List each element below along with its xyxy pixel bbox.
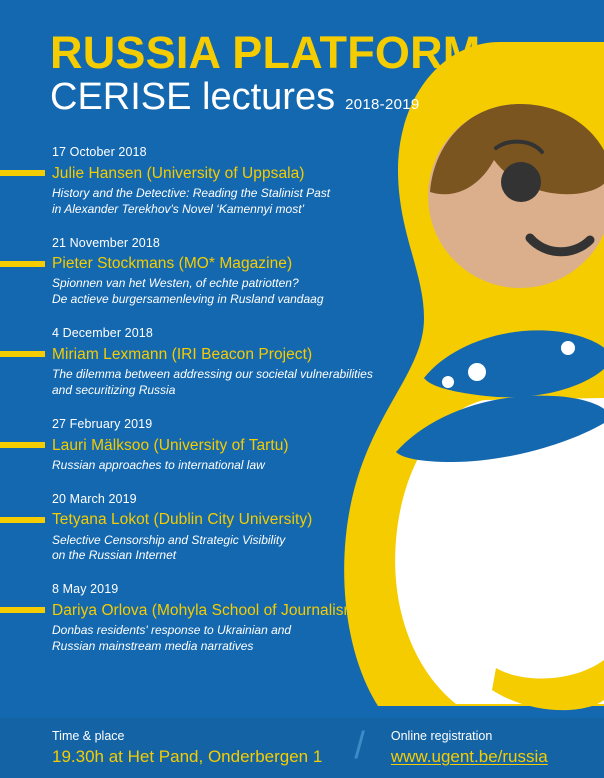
lecture-dash-marker xyxy=(0,607,45,613)
doll-apron-rim xyxy=(492,660,604,710)
lecture-list: 17 October 2018 Julie Hansen (University… xyxy=(0,146,420,674)
lecture-dash-marker xyxy=(0,170,45,176)
doll-mouth xyxy=(530,238,590,252)
lecture-topic-line: in Alexander Terekhov's Novel ‘Kamennyi … xyxy=(52,202,420,218)
doll-petal-dot xyxy=(442,376,454,388)
lecture-speaker: Tetyana Lokot (Dublin City University) xyxy=(52,512,420,528)
page-title: RUSSIA PLATFORM xyxy=(50,30,470,76)
lecture-topic: Russian approaches to international law xyxy=(52,458,420,474)
doll-eye xyxy=(501,162,541,202)
lecture-item: 27 February 2019 Lauri Mälksoo (Universi… xyxy=(0,418,420,474)
poster-header: RUSSIA PLATFORM CERISE lectures 2018-201… xyxy=(50,30,470,118)
lecture-dash-marker xyxy=(0,517,45,523)
time-place-label: Time & place xyxy=(52,729,322,745)
doll-face xyxy=(428,104,604,288)
doll-petal-lower xyxy=(396,396,604,462)
footer-separator: / xyxy=(354,727,365,765)
lecture-speaker: Pieter Stockmans (MO* Magazine) xyxy=(52,256,420,272)
time-place-value: 19.30h at Het Pand, Onderbergen 1 xyxy=(52,747,322,767)
registration-url-link[interactable]: www.ugent.be/russia xyxy=(391,747,548,767)
lecture-date: 27 February 2019 xyxy=(52,418,420,431)
doll-petal-dot xyxy=(561,341,575,355)
poster-footer: Time & place 19.30h at Het Pand, Onderbe… xyxy=(0,718,604,778)
lecture-speaker: Julie Hansen (University of Uppsala) xyxy=(52,166,420,182)
lecture-dash-marker xyxy=(0,261,45,267)
time-and-place-block: Time & place 19.30h at Het Pand, Onderbe… xyxy=(52,729,322,766)
lecture-dash-marker xyxy=(0,351,45,357)
page-subtitle: CERISE lectures xyxy=(50,78,335,118)
lecture-topic-line: Russian mainstream media narratives xyxy=(52,639,420,655)
lecture-topic-line: Selective Censorship and Strategic Visib… xyxy=(52,533,420,549)
lecture-speaker: Dariya Orlova (Mohyla School of Journali… xyxy=(52,603,420,619)
lecture-topic-line: History and the Detective: Reading the S… xyxy=(52,186,420,202)
lecture-topic-line: De actieve burgersamenleving in Rusland … xyxy=(52,292,420,308)
doll-eyebrow xyxy=(496,142,542,152)
academic-year-label: 2018-2019 xyxy=(345,96,419,113)
lecture-item: 8 May 2019 Dariya Orlova (Mohyla School … xyxy=(0,583,420,655)
registration-label: Online registration xyxy=(391,729,548,745)
lecture-speaker: Miriam Lexmann (IRI Beacon Project) xyxy=(52,347,420,363)
lecture-topic-line: Russian approaches to international law xyxy=(52,458,420,474)
lecture-topic-line: and securitizing Russia xyxy=(52,383,420,399)
lecture-topic: Spionnen van het Westen, of echte patrio… xyxy=(52,276,420,308)
lecture-topic-line: Donbas residents' response to Ukrainian … xyxy=(52,623,420,639)
subtitle-row: CERISE lectures 2018-2019 xyxy=(50,78,470,118)
lecture-topic: The dilemma between addressing our socie… xyxy=(52,367,420,399)
lecture-item: 20 March 2019 Tetyana Lokot (Dublin City… xyxy=(0,493,420,565)
lecture-topic-line: The dilemma between addressing our socie… xyxy=(52,367,420,383)
doll-petal-dot xyxy=(468,363,486,381)
lecture-dash-marker xyxy=(0,442,45,448)
lecture-date: 20 March 2019 xyxy=(52,493,420,506)
lecture-date: 17 October 2018 xyxy=(52,146,420,159)
poster: RUSSIA PLATFORM CERISE lectures 2018-201… xyxy=(0,0,604,778)
lecture-date: 8 May 2019 xyxy=(52,583,420,596)
lecture-topic-line: Spionnen van het Westen, of echte patrio… xyxy=(52,276,420,292)
lecture-date: 4 December 2018 xyxy=(52,327,420,340)
lecture-item: 4 December 2018 Miriam Lexmann (IRI Beac… xyxy=(0,327,420,399)
lecture-date: 21 November 2018 xyxy=(52,237,420,250)
doll-apron xyxy=(395,398,604,704)
lecture-item: 17 October 2018 Julie Hansen (University… xyxy=(0,146,420,218)
doll-petal-upper xyxy=(424,330,604,397)
lecture-item: 21 November 2018 Pieter Stockmans (MO* M… xyxy=(0,237,420,309)
registration-block: Online registration www.ugent.be/russia xyxy=(391,729,548,766)
lecture-topic-line: on the Russian Internet xyxy=(52,548,420,564)
lecture-topic: Selective Censorship and Strategic Visib… xyxy=(52,533,420,565)
lecture-speaker: Lauri Mälksoo (University of Tartu) xyxy=(52,438,420,454)
lecture-topic: History and the Detective: Reading the S… xyxy=(52,186,420,218)
doll-floral-decoration xyxy=(396,330,604,462)
lecture-topic: Donbas residents' response to Ukrainian … xyxy=(52,623,420,655)
